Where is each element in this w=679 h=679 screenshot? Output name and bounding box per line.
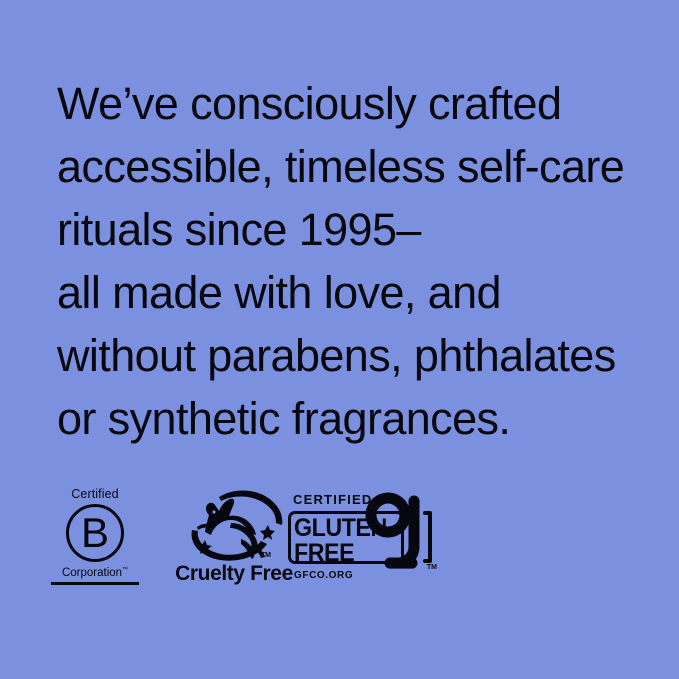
b-corp-corporation-text: Corporation [62,567,122,579]
gfco-g-mark-icon [361,489,433,577]
certification-badge-row: Certified B Corporation™ [47,487,647,592]
b-corp-trademark-icon: ™ [122,567,128,573]
headline-line-2: accessible, timeless self-care [57,135,647,198]
promo-image-canvas: We’ve consciously crafted accessible, ti… [0,0,679,679]
gluten-free-certification-badge: CERTIFIED GLUTEN FREE GFCO.ORG [287,487,437,587]
b-corp-certified-label: Certified [47,487,143,503]
b-corp-letter: B [66,504,124,562]
headline-line-3: rituals since 1995– [57,198,647,261]
headline-line-6: or synthetic fragrances. [57,387,647,450]
gluten-free-org-label: GFCO.ORG [294,570,353,581]
gluten-free-line2-label: FREE [294,541,354,566]
headline-line-4: all made with love, and [57,261,647,324]
headline-line-1: We’ve consciously crafted [57,72,647,135]
b-corp-underline-rule [51,582,139,586]
gluten-free-trademark-icon: TM [427,564,437,571]
headline-line-5: without parabens, phthalates [57,324,647,387]
leaping-bunny-icon: TM [175,487,293,563]
cruelty-free-trademark-icon: TM [261,552,271,559]
b-corp-corporation-label: Corporation™ [47,564,143,580]
headline-block: We’ve consciously crafted accessible, ti… [57,72,647,450]
b-corp-circle-b-icon: B [66,504,124,562]
b-corp-certification-badge: Certified B Corporation™ [47,487,143,587]
